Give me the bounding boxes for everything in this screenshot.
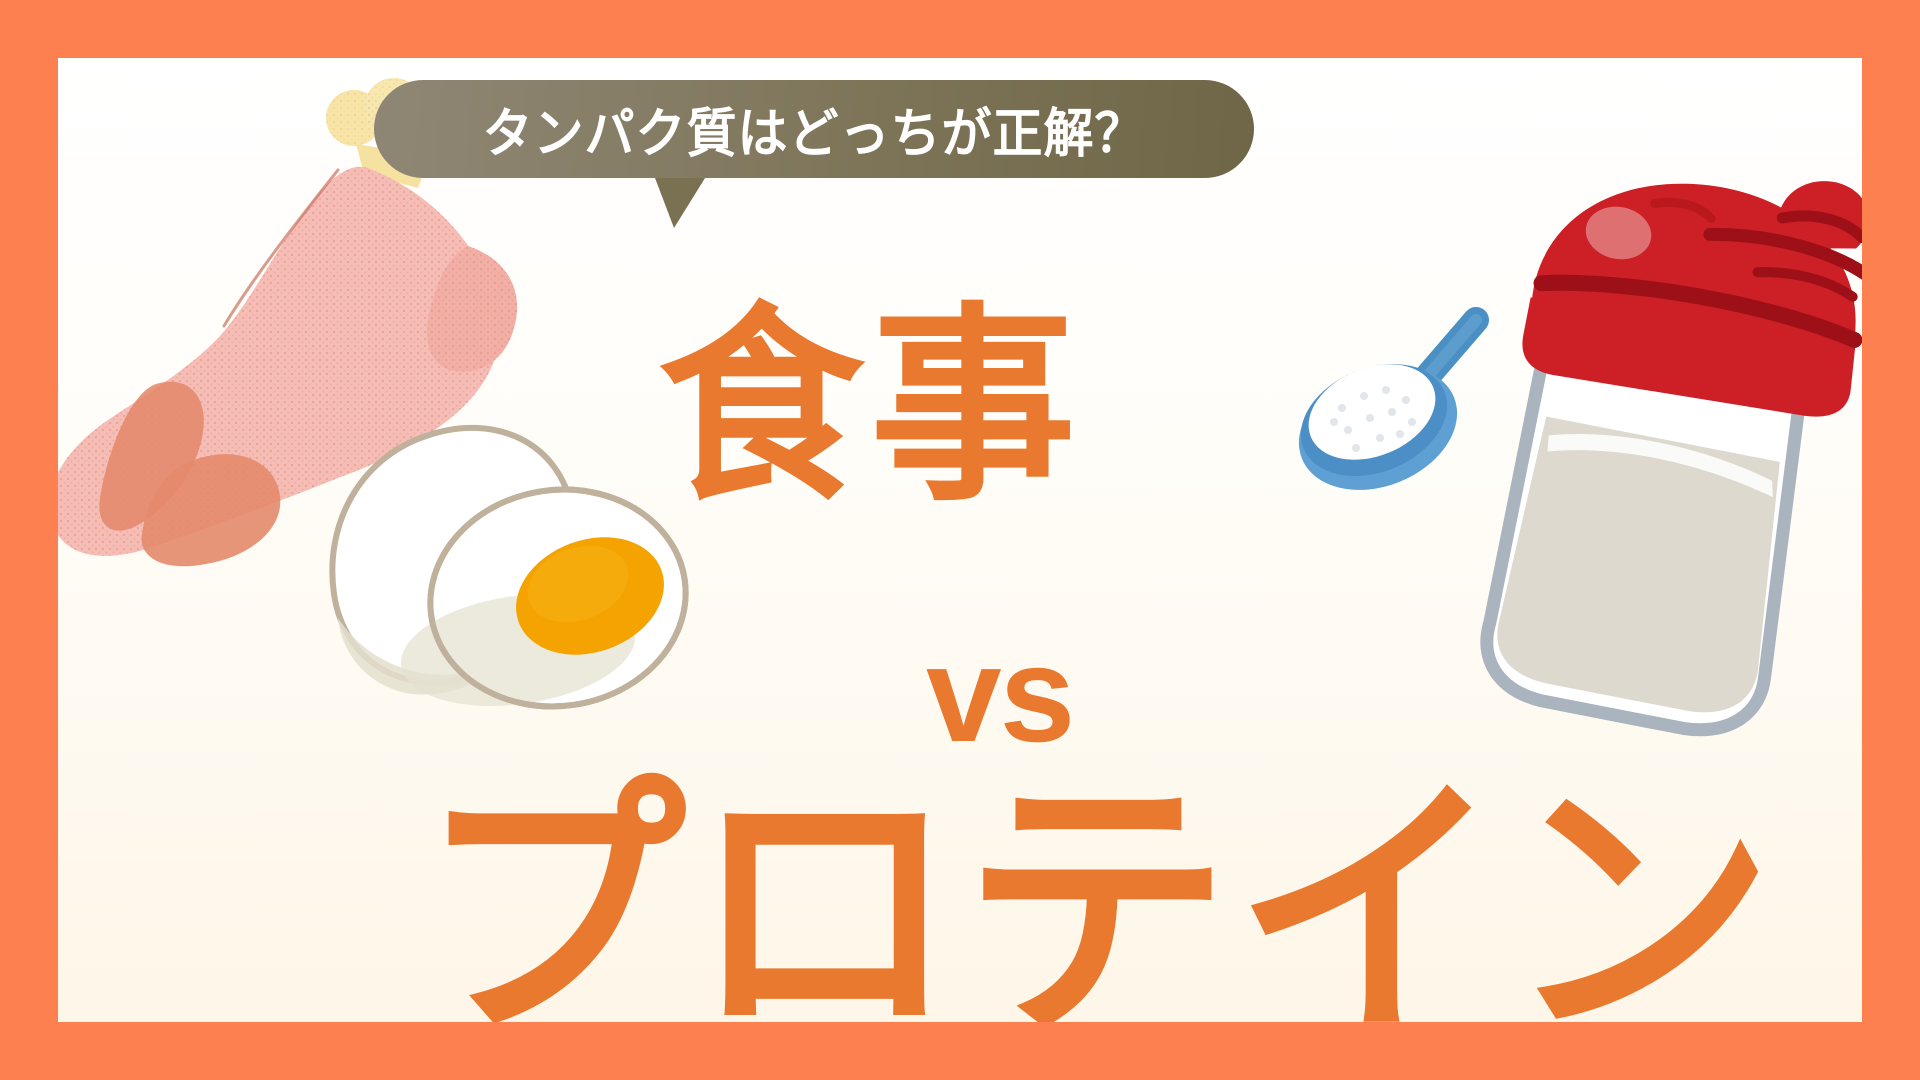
speech-bubble: タンパク質はどっちが正解？ <box>374 80 1574 260</box>
poster-root: タンパク質はどっちが正解？ 食事 vs プロテイン <box>0 0 1920 1080</box>
headline-versus-label: vs <box>926 626 1073 762</box>
boiled-eggs-illustration <box>308 398 728 728</box>
speech-bubble-tail <box>652 170 710 228</box>
speech-bubble-body: タンパク質はどっちが正解？ <box>374 80 1254 178</box>
poster-card: タンパク質はどっちが正解？ 食事 vs プロテイン <box>58 58 1862 1022</box>
speech-bubble-text: タンパク質はどっちが正解？ <box>483 91 1146 167</box>
headline-bottom-word: プロテイン <box>418 773 1778 1022</box>
